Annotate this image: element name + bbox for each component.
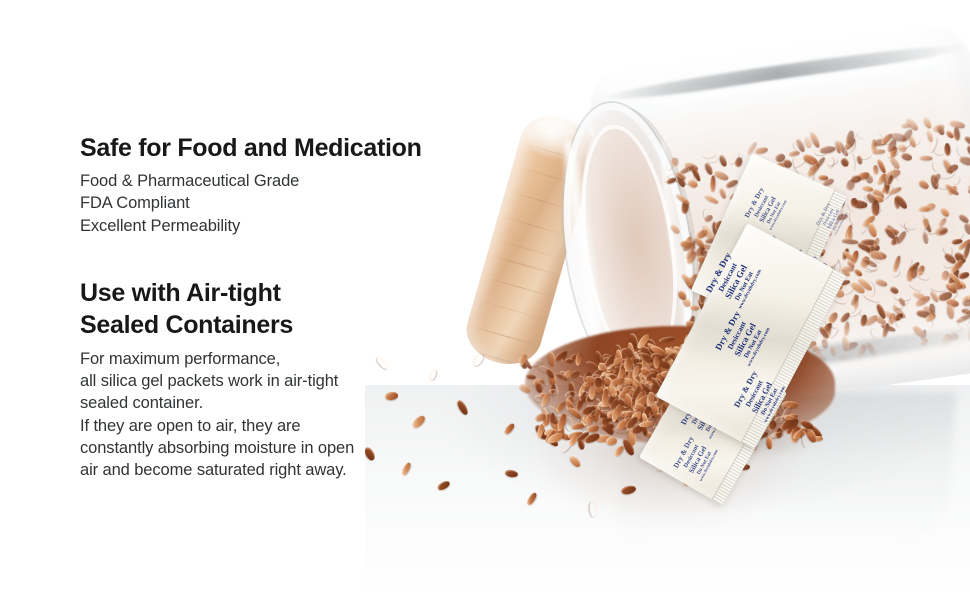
section-heading-line-1: Use with Air-tight	[80, 277, 440, 309]
flax-seed	[950, 175, 960, 186]
flax-seed	[613, 444, 625, 457]
section-heading-line-2: Sealed Containers	[80, 309, 440, 341]
flax-seed	[932, 162, 940, 173]
flax-seed	[884, 339, 895, 349]
flax-seed	[859, 150, 871, 159]
flax-seed	[525, 373, 535, 380]
flax-seed	[872, 149, 885, 155]
flax-seed	[918, 206, 929, 211]
flax-seed	[871, 199, 879, 215]
flax-seed	[956, 145, 967, 159]
paragraph-line: If they are open to air, they are	[80, 415, 440, 437]
flax-seed	[870, 327, 880, 339]
flax-seed	[865, 174, 875, 185]
flax-seed	[841, 238, 858, 245]
flax-seed	[875, 278, 889, 287]
flax-seed	[856, 130, 868, 141]
paragraph-line: air and become saturated right away.	[80, 459, 440, 481]
flax-seed	[872, 165, 878, 175]
flax-seed	[703, 161, 714, 176]
flax-seed	[594, 349, 603, 361]
flax-seed	[503, 422, 516, 436]
paragraph-line: constantly absorbing moisture in open	[80, 437, 440, 459]
section-heading: Use with Air-tight Sealed Containers	[80, 277, 440, 341]
flax-seed	[944, 142, 951, 155]
flax-seed	[845, 179, 855, 192]
flax-seed	[900, 151, 912, 161]
flax-seed	[923, 219, 928, 229]
flax-seed	[671, 157, 678, 166]
flax-seed	[718, 155, 728, 169]
flax-seed	[850, 197, 858, 207]
flax-seed	[586, 360, 599, 369]
flax-seed	[939, 332, 951, 350]
flax-seed	[670, 222, 682, 234]
paragraph-line: For maximum performance,	[80, 348, 440, 370]
description-paragraph: For maximum performance, all silica gel …	[80, 348, 440, 482]
flax-seed	[710, 176, 716, 193]
flax-seed	[659, 335, 675, 343]
flax-seed	[867, 222, 879, 239]
flax-seed	[826, 156, 835, 168]
flax-seed	[919, 156, 932, 161]
flax-seed	[518, 382, 532, 394]
list-item: FDA Compliant	[80, 192, 440, 214]
section-airtight-usage: Use with Air-tight Sealed Containers For…	[80, 277, 440, 482]
flax-seed	[719, 188, 728, 200]
paragraph-line: sealed container.	[80, 392, 440, 414]
flax-seed	[928, 290, 939, 304]
flax-seed	[916, 270, 930, 280]
paragraph-line: all silica gel packets work in air-tight	[80, 370, 440, 392]
product-photo: Dry & DryDesiccantSilica GelDo Not Eatww…	[365, 0, 970, 600]
list-item: Food & Pharmaceutical Grade	[80, 170, 440, 192]
flax-seed	[917, 179, 930, 191]
flax-seed	[654, 355, 660, 368]
section-food-safety: Safe for Food and Medication Food & Phar…	[80, 132, 440, 237]
flax-seed	[819, 145, 836, 155]
flax-seed	[866, 341, 879, 358]
flax-seed	[788, 150, 800, 157]
flax-seed	[905, 267, 915, 283]
flax-seed	[713, 169, 730, 181]
flax-seed	[953, 126, 961, 141]
flax-seed	[853, 268, 863, 278]
flax-seed	[605, 437, 617, 446]
flax-seed	[864, 264, 877, 273]
flax-seed	[848, 153, 855, 170]
flax-seed	[704, 194, 719, 205]
list-item: Excellent Permeability	[80, 215, 440, 237]
section-heading: Safe for Food and Medication	[80, 132, 440, 164]
feature-list: Food & Pharmaceutical Grade FDA Complian…	[80, 170, 440, 237]
marketing-copy-panel: Safe for Food and Medication Food & Phar…	[80, 132, 440, 482]
flax-seed	[910, 282, 923, 292]
flax-seed	[849, 212, 858, 225]
flax-seed	[894, 293, 911, 301]
flax-seed	[940, 207, 951, 219]
flax-seed	[964, 222, 970, 235]
flax-seed	[754, 147, 768, 155]
